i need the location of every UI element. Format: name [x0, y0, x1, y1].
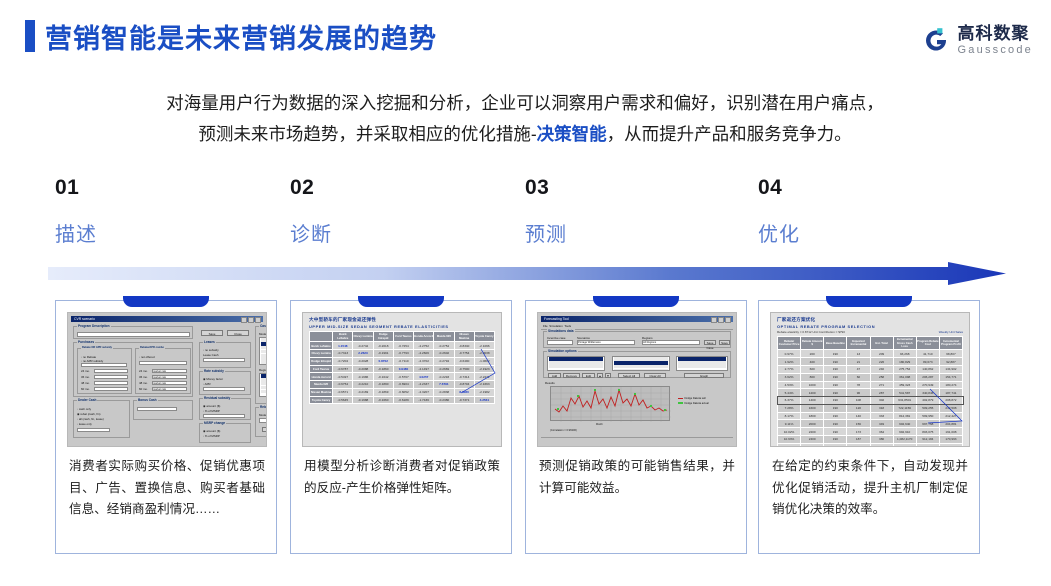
card-tab-indicator — [593, 296, 679, 307]
lead-line-2-after: ，从而提升产品和服务竞争力。 — [607, 124, 852, 144]
table-cell: 9.11% — [778, 420, 801, 428]
table-cell: 402,879 — [916, 397, 939, 405]
table-cell: 0.97% — [778, 350, 801, 358]
lead-paragraph: 对海量用户行为数据的深入挖掘和分析，企业可以洞察用户需求和偏好，识别潜在用户痛点… — [45, 88, 1005, 149]
lead-line-2-before: 预测未来市场趋势，并采取相应的优化措施- — [198, 124, 536, 144]
col-header: Rebate/ Customer Price — [778, 337, 801, 350]
table-row: 1.92%40019021226180,82989,67392,887 — [778, 358, 963, 366]
col-header: Rebate Amount $ — [801, 337, 824, 350]
card-optimize[interactable]: 厂家返还方案优化 OPTIMAL REBATE PROGRAM SELECTIO… — [758, 300, 980, 554]
table-cell: 190 — [824, 404, 847, 412]
logo-en-text: Gausscode — [958, 45, 1033, 56]
table-cell: 140,862 — [916, 365, 939, 373]
table-row: Dodge Intrepid-0.7204-0.20280.8702-0.711… — [310, 357, 495, 365]
table-row: 2.77%60019047240275,754140,862134,902 — [778, 365, 963, 373]
table-cell: 206,287 — [916, 373, 939, 381]
step-02-label: 诊断 — [290, 218, 490, 247]
table-cell: 333 — [870, 412, 893, 420]
table-row: Nissan Maxima-0.6571-0.2169-0.1869-0.605… — [310, 388, 495, 396]
table-cell: 154,771 — [939, 373, 962, 381]
col-header: Honda Accord — [414, 332, 434, 342]
table-cell: 1800 — [801, 412, 824, 420]
table-cell: 1,172,409 — [893, 443, 916, 447]
table-cell: 912,184 — [916, 435, 939, 443]
table-cell: 204,881 — [939, 420, 962, 428]
card-tab-indicator — [826, 296, 912, 307]
chart-legend: Dodge Dakota sell Dodge Dakota actual — [678, 397, 709, 406]
table-cell: 10.02% — [778, 428, 801, 436]
table-cell: 11.85% — [778, 443, 801, 447]
card-optimize-thumbnail: 厂家返还方案优化 OPTIMAL REBATE PROGRAM SELECTIO… — [770, 312, 970, 447]
col-header: Incremental Program Profit — [939, 337, 962, 350]
table-cell: 190 — [824, 373, 847, 381]
table-cell: 10.93% — [778, 435, 801, 443]
table-cell: 96 — [847, 389, 870, 397]
col-header: Base Baseline — [824, 337, 847, 350]
optimal-table-mock: 厂家返还方案优化 OPTIMAL REBATE PROGRAM SELECTIO… — [771, 313, 969, 446]
table-cell: 190 — [824, 443, 847, 447]
table-cell: 144,766 — [939, 443, 962, 447]
logo-cn-text: 高科数聚 — [958, 25, 1033, 42]
legacy-dialog-mock: CVR scenario Program Description Purchas… — [68, 313, 266, 446]
table-cell: 156 — [847, 420, 870, 428]
page-title: 营销智能是未来营销发展的趋势 — [45, 17, 437, 56]
table-cell: 190 — [824, 389, 847, 397]
table-row: 9.11%2000190156349902,640697,768204,881 — [778, 420, 963, 428]
col-header: Buick LeSabre — [333, 332, 353, 342]
table-cell: 140 — [847, 412, 870, 420]
table-cell: 287 — [870, 389, 893, 397]
table-cell: 2.77% — [778, 365, 801, 373]
card-optimize-caption: 在给定的约束条件下，自动发现并优化促销活动，提升主机厂制定促销优化决策的效率。 — [772, 456, 968, 521]
optimal-note-left: Rebate elasticity = 0.8712 Unit Contribu… — [777, 330, 845, 334]
table-cell: 361,098 — [893, 373, 916, 381]
table-row: 10.93%24001901873801,082,1170912,184170,… — [778, 435, 963, 443]
step-04: 04 优化 — [758, 176, 958, 247]
optimal-note-right: Weekly Unit Sales — [939, 330, 963, 334]
table-cell: 509,255 — [916, 404, 939, 412]
table-row: Mazda 626-0.6754-0.2210-0.1890-0.6904-2.… — [310, 381, 495, 389]
table-cell: 200 — [801, 350, 824, 358]
table-cell: 340,846 — [916, 389, 939, 397]
table-cell: 1,028,722 — [916, 443, 939, 447]
col-header: Program Rebate Cost — [916, 337, 939, 350]
card-diagnose-thumbnail: 大中型轿车的厂家现金返还弹性 UPPER MID-SIZE SEDAN SEGM… — [302, 312, 502, 447]
table-cell: 240 — [870, 365, 893, 373]
table-cell: 400 — [801, 358, 824, 366]
col-header: Chevy Lumina — [353, 332, 373, 342]
table-row: 4.53%100019078271459,323270,949180,274 — [778, 381, 963, 389]
table-header-row: Buick LeSabre Chevy Lumina Dodge Intrepi… — [310, 332, 495, 342]
table-cell: 120 — [847, 404, 870, 412]
table-cell: 93,268 — [893, 350, 916, 358]
table-cell: 6.37% — [778, 397, 801, 405]
table-cell: 697,768 — [916, 420, 939, 428]
table-cell: 722,1156 — [893, 404, 916, 412]
table-cell: 803,075 — [916, 428, 939, 436]
card-tab-indicator — [358, 296, 444, 307]
table-cell: 190 — [824, 381, 847, 389]
card-tab-indicator — [123, 296, 209, 307]
table-cell: 1000 — [801, 381, 824, 389]
title-accent-bar — [25, 20, 35, 52]
table-cell: 190 — [824, 420, 847, 428]
optimal-grid: Rebate/ Customer Price Rebate Amount $ B… — [777, 336, 963, 447]
table-cell: 2000 — [801, 420, 824, 428]
table-row: 8.17%1800190140333812,381599,950212,427 — [778, 412, 963, 420]
table-cell: 190 — [824, 365, 847, 373]
table-cell: 191,008 — [939, 428, 962, 436]
forecast-app-mock: Forecasting Tool File Simulation Tools S… — [538, 313, 736, 446]
optimal-title-en: OPTIMAL REBATE PROGRAM SELECTION — [777, 324, 963, 329]
table-row: 11.85%26001902033951,172,4091,028,722144… — [778, 443, 963, 447]
table-cell: 364 — [870, 428, 893, 436]
table-cell: 302 — [870, 397, 893, 405]
card-predict-caption: 预测促销政策的可能销售结果，并计算可能效益。 — [539, 456, 735, 499]
table-row: 0.97%2001901320993,26841,71068,807 — [778, 350, 963, 358]
card-diagnose-caption: 用模型分析诊断消费者对促销政策的反应-产生价格弹性矩阵。 — [304, 456, 500, 499]
dialog-titlebar: Forecasting Tool — [541, 316, 733, 322]
table-cell: 212,508 — [939, 404, 962, 412]
table-cell: 258 — [870, 373, 893, 381]
step-01-label: 描述 — [55, 218, 255, 247]
step-03: 03 预测 — [525, 176, 725, 247]
table-cell: 8.17% — [778, 412, 801, 420]
table-cell: 190 — [824, 435, 847, 443]
col-header: Nissan Maxima — [454, 332, 474, 342]
table-cell: 318 — [870, 404, 893, 412]
table-cell: 208,872 — [939, 397, 962, 405]
table-cell: 600 — [801, 365, 824, 373]
card-row: CVR scenario Program Description Purchas… — [0, 297, 1051, 559]
elasticity-table-mock: 大中型轿车的厂家现金返还弹性 UPPER MID-SIZE SEDAN SEGM… — [303, 313, 501, 446]
step-04-number: 04 — [758, 176, 958, 200]
elasticity-title-en: UPPER MID-SIZE SEDAN SEGMENT REBATE ELAS… — [309, 324, 495, 329]
table-row: 10.02%2200190173364992,910803,075191,008 — [778, 428, 963, 436]
table-cell: 173 — [847, 428, 870, 436]
card-predict[interactable]: Forecasting Tool File Simulation Tools S… — [525, 300, 747, 554]
table-cell: 1,082,1170 — [893, 435, 916, 443]
table-cell: 1200 — [801, 389, 824, 397]
lead-line-2: 预测未来市场趋势，并采取相应的优化措施-决策智能，从而提升产品和服务竞争力。 — [45, 119, 1005, 150]
table-cell: 902,640 — [893, 420, 916, 428]
table-cell: 459,323 — [893, 381, 916, 389]
step-01-number: 01 — [55, 176, 255, 200]
table-row: Toyota Camry-0.5645-0.1988-0.1660-0.6189… — [310, 396, 495, 404]
optimal-title-cn: 厂家返还方案优化 — [777, 317, 963, 323]
elasticity-grid: Buick LeSabre Chevy Lumina Dodge Intrepi… — [309, 331, 495, 404]
table-cell: 1.92% — [778, 358, 801, 366]
step-03-label: 预测 — [525, 218, 725, 247]
step-01: 01 描述 — [55, 176, 255, 247]
col-header: Incremental Gross Cash Loss — [893, 337, 916, 350]
step-04-label: 优化 — [758, 218, 958, 247]
table-cell: 212,427 — [939, 412, 962, 420]
table-cell: 4.53% — [778, 381, 801, 389]
table-cell: 7.28% — [778, 404, 801, 412]
brand-logo: 高科数聚 Gausscode — [921, 18, 1033, 62]
table-cell: 190 — [824, 397, 847, 405]
table-cell: 541,587 — [893, 389, 916, 397]
table-row: 5.44%120019096287541,587340,846187,741 — [778, 389, 963, 397]
dialog-titlebar: CVR scenario — [71, 316, 263, 322]
table-cell: 992,910 — [893, 428, 916, 436]
col-header: Est. Total — [870, 337, 893, 350]
table-cell: 3.62% — [778, 373, 801, 381]
table-cell: 187,741 — [939, 389, 962, 397]
lead-line-1: 对海量用户行为数据的深入挖掘和分析，企业可以洞察用户需求和偏好，识别潜在用户痛点… — [45, 88, 1005, 119]
table-row: Honda Accord-0.5497-0.1986-0.1642-0.5767… — [310, 373, 495, 381]
table-cell: 380 — [870, 435, 893, 443]
table-cell: 631,8501 — [893, 397, 916, 405]
table-cell: 78 — [847, 381, 870, 389]
table-cell: 395 — [870, 443, 893, 447]
card-describe[interactable]: CVR scenario Program Description Purchas… — [55, 300, 277, 554]
table-cell: 89,673 — [916, 358, 939, 366]
forecast-line-chart — [551, 387, 671, 422]
elasticity-title-cn: 大中型轿车的厂家现金返还弹性 — [309, 317, 495, 323]
table-cell: 41,710 — [916, 350, 939, 358]
table-cell: 275,754 — [893, 365, 916, 373]
table-cell: 60 — [847, 373, 870, 381]
col-header: Toyota Camry — [474, 332, 494, 342]
table-cell: 209 — [870, 350, 893, 358]
card-describe-caption: 消费者实际购买价格、促销优惠项目、广告、置换信息、购买者基础信息、经销商盈利情况… — [69, 456, 265, 521]
table-cell: 2400 — [801, 435, 824, 443]
step-02-number: 02 — [290, 176, 490, 200]
table-cell: 190 — [824, 358, 847, 366]
optimal-note: Rebate elasticity = 0.8712 Unit Contribu… — [777, 330, 963, 334]
table-cell: 134,902 — [939, 365, 962, 373]
table-cell: 47 — [847, 365, 870, 373]
col-header: Dodge Intrepid — [373, 332, 393, 342]
table-cell: 1400 — [801, 397, 824, 405]
step-02: 02 诊断 — [290, 176, 490, 247]
table-cell: 68,807 — [939, 350, 962, 358]
table-cell: 187 — [847, 435, 870, 443]
col-header: Expected Incremental — [847, 337, 870, 350]
table-cell: 812,381 — [893, 412, 916, 420]
table-cell: 800 — [801, 373, 824, 381]
progress-arrow — [48, 262, 1006, 286]
table-header-row: Rebate/ Customer Price Rebate Amount $ B… — [778, 337, 963, 350]
table-cell: 599,950 — [916, 412, 939, 420]
table-cell: 5.44% — [778, 389, 801, 397]
card-describe-thumbnail: CVR scenario Program Description Purchas… — [67, 312, 267, 447]
table-cell: 190 — [824, 412, 847, 420]
table-cell: 203 — [847, 443, 870, 447]
table-cell: 92,887 — [939, 358, 962, 366]
table-cell: 108 — [847, 397, 870, 405]
table-row: Buick LeSabre1.1548-0.2742-0.2018-0.7254… — [310, 342, 495, 350]
table-cell: 190 — [824, 350, 847, 358]
lead-highlight: 决策智能 — [537, 124, 607, 144]
table-cell: 2600 — [801, 443, 824, 447]
table-cell: 180,274 — [939, 381, 962, 389]
table-cell: 190 — [824, 428, 847, 436]
card-predict-thumbnail: Forecasting Tool File Simulation Tools S… — [537, 312, 737, 447]
table-row: Chevy Lumina-0.73132.2623-0.1991-0.7793-… — [310, 349, 495, 357]
table-cell: 226 — [870, 358, 893, 366]
col-header: Ford Taurus — [393, 332, 413, 342]
table-cell: 2200 — [801, 428, 824, 436]
table-row: 6.37%1400190108302631,8501402,879208,872 — [778, 397, 963, 405]
table-cell: 271 — [870, 381, 893, 389]
table-cell: 1600 — [801, 404, 824, 412]
col-header: Mazda 626 — [434, 332, 454, 342]
optimal-table-body: 0.97%2001901320993,26841,71068,8071.92%4… — [778, 350, 963, 447]
card-diagnose[interactable]: 大中型轿车的厂家现金返还弹性 UPPER MID-SIZE SEDAN SEGM… — [290, 300, 512, 554]
table-cell: 13 — [847, 350, 870, 358]
table-cell: 170,993 — [939, 435, 962, 443]
table-cell: 180,829 — [893, 358, 916, 366]
table-cell: 270,949 — [916, 381, 939, 389]
table-row: 3.62%80019060258361,098206,287154,771 — [778, 373, 963, 381]
table-row: Ford Taurus-0.6787-0.2088-0.18600.9480-2… — [310, 365, 495, 373]
table-cell: 349 — [870, 420, 893, 428]
table-cell: 21 — [847, 358, 870, 366]
step-03-number: 03 — [525, 176, 725, 200]
slide-header: 营销智能是未来营销发展的趋势 高科数聚 Gausscode — [0, 0, 1051, 72]
slide: 营销智能是未来营销发展的趋势 高科数聚 Gausscode 对海量用户行为数据的… — [0, 0, 1051, 586]
step-labels: 01 描述 02 诊断 03 预测 04 优化 — [0, 176, 1051, 248]
table-row: 7.28%1600190120318722,1156509,255212,508 — [778, 404, 963, 412]
gausscode-logo-icon — [921, 25, 951, 55]
